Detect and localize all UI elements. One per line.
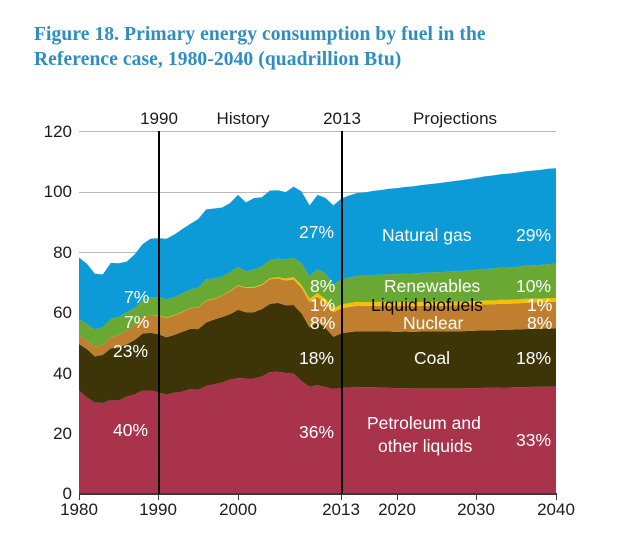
y-tick-80: 80 xyxy=(26,243,72,263)
share-2013-natural-gas: 27% xyxy=(299,222,334,243)
annotation-projections: Projections xyxy=(402,109,508,129)
share-2040-renewables: 10% xyxy=(516,276,551,297)
series-label-coal: Coal xyxy=(414,348,450,369)
divider-line-1990 xyxy=(158,131,160,494)
y-tick-20: 20 xyxy=(26,424,72,444)
share-2013-nuclear: 8% xyxy=(310,313,335,334)
annotation-1990: 1990 xyxy=(130,109,188,129)
share-1990-natural-gas: 23% xyxy=(113,222,148,243)
x-tick-2030: 2030 xyxy=(446,500,506,520)
share-2040-petroleum: 33% xyxy=(516,430,551,451)
x-axis-line xyxy=(79,493,557,495)
share-1990-coal: 23% xyxy=(113,341,148,362)
annotation-history: History xyxy=(208,109,278,129)
x-tick-2000: 2000 xyxy=(208,500,268,520)
x-tick-1990: 1990 xyxy=(128,500,188,520)
y-tick-60: 60 xyxy=(26,303,72,323)
share-2040-natural-gas: 29% xyxy=(516,225,551,246)
y-tick-40: 40 xyxy=(26,364,72,384)
x-tick-2013: 2013 xyxy=(311,500,371,520)
share-1990-nuclear: 7% xyxy=(124,312,149,333)
series-label-renewables: Renewables xyxy=(384,276,480,297)
share-1990-petroleum: 40% xyxy=(113,420,148,441)
series-label-petroleum-line1: Petroleum and xyxy=(367,413,481,434)
chart-area: 120 100 80 60 40 20 0 1980 1990 2000 201… xyxy=(0,0,623,553)
series-label-nuclear: Nuclear xyxy=(403,313,463,334)
x-tick-1980: 1980 xyxy=(49,500,109,520)
divider-line-2013 xyxy=(341,131,343,494)
share-2040-coal: 18% xyxy=(516,348,551,369)
y-tick-120: 120 xyxy=(26,122,72,142)
share-2040-nuclear: 8% xyxy=(527,313,552,334)
annotation-2013: 2013 xyxy=(313,109,371,129)
share-2013-coal: 18% xyxy=(299,348,334,369)
x-tick-2020: 2020 xyxy=(367,500,427,520)
x-tick-2040: 2040 xyxy=(526,500,586,520)
figure-root: Figure 18. Primary energy consumption by… xyxy=(0,0,623,553)
y-tick-100: 100 xyxy=(26,182,72,202)
series-label-petroleum-line2: other liquids xyxy=(378,436,472,457)
share-2013-renewables: 8% xyxy=(310,276,335,297)
share-1990-renewables: 7% xyxy=(124,287,149,308)
series-label-natural-gas: Natural gas xyxy=(382,225,472,246)
share-2013-petroleum: 36% xyxy=(299,422,334,443)
